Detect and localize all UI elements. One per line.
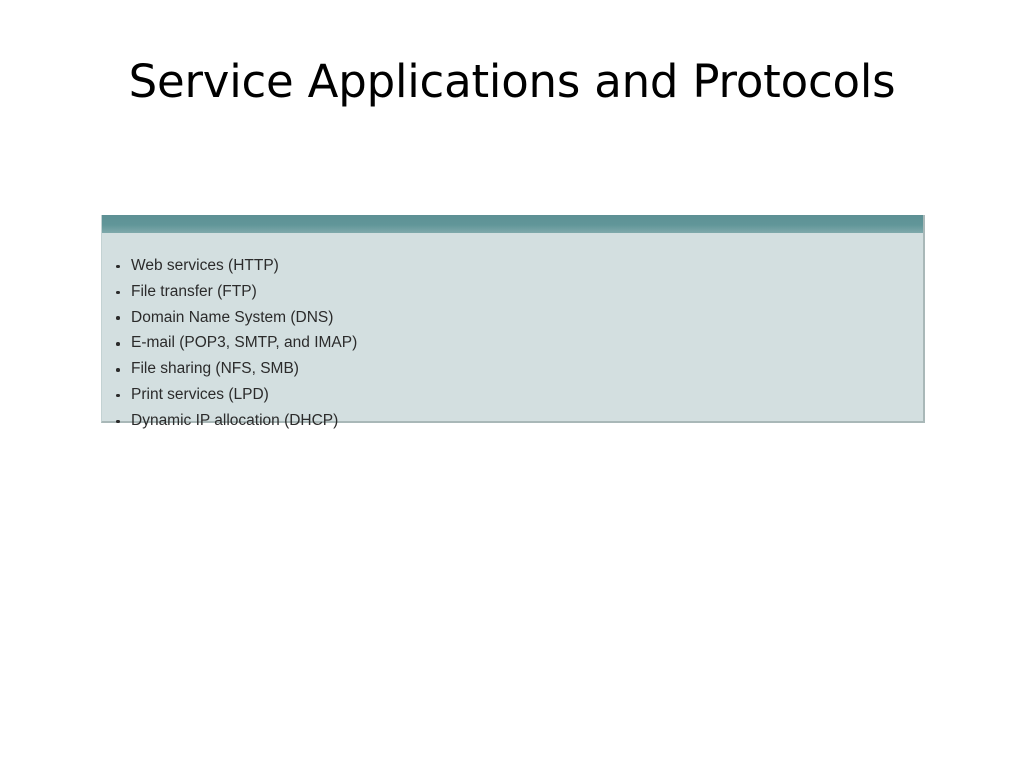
list-item: File transfer (FTP) — [102, 279, 923, 305]
slide-canvas: Service Applications and Protocols Web s… — [0, 0, 1024, 768]
list-item: Domain Name System (DNS) — [102, 305, 923, 331]
list-item-label: Web services (HTTP) — [131, 257, 279, 274]
service-list-panel: Web services (HTTP) File transfer (FTP) … — [101, 215, 925, 423]
list-item-label: File sharing (NFS, SMB) — [131, 360, 299, 377]
list-item: File sharing (NFS, SMB) — [102, 356, 923, 382]
list-item: E-mail (POP3, SMTP, and IMAP) — [102, 330, 923, 356]
service-list: Web services (HTTP) File transfer (FTP) … — [102, 233, 923, 434]
list-item-label: File transfer (FTP) — [131, 283, 257, 300]
bullet-icon — [116, 316, 120, 320]
list-item: Print services (LPD) — [102, 382, 923, 408]
list-item-label: Dynamic IP allocation (DHCP) — [131, 412, 338, 429]
page-title: Service Applications and Protocols — [0, 54, 1024, 110]
bullet-icon — [116, 265, 120, 269]
bullet-icon — [116, 420, 120, 424]
list-item-label: Print services (LPD) — [131, 386, 269, 403]
list-item: Dynamic IP allocation (DHCP) — [102, 408, 923, 434]
bullet-icon — [116, 368, 120, 372]
bullet-icon — [116, 342, 120, 346]
bullet-icon — [116, 291, 120, 295]
list-item-label: Domain Name System (DNS) — [131, 309, 333, 326]
panel-header-bar — [102, 215, 923, 233]
list-item: Web services (HTTP) — [102, 253, 923, 279]
bullet-icon — [116, 394, 120, 398]
list-item-label: E-mail (POP3, SMTP, and IMAP) — [131, 334, 357, 351]
